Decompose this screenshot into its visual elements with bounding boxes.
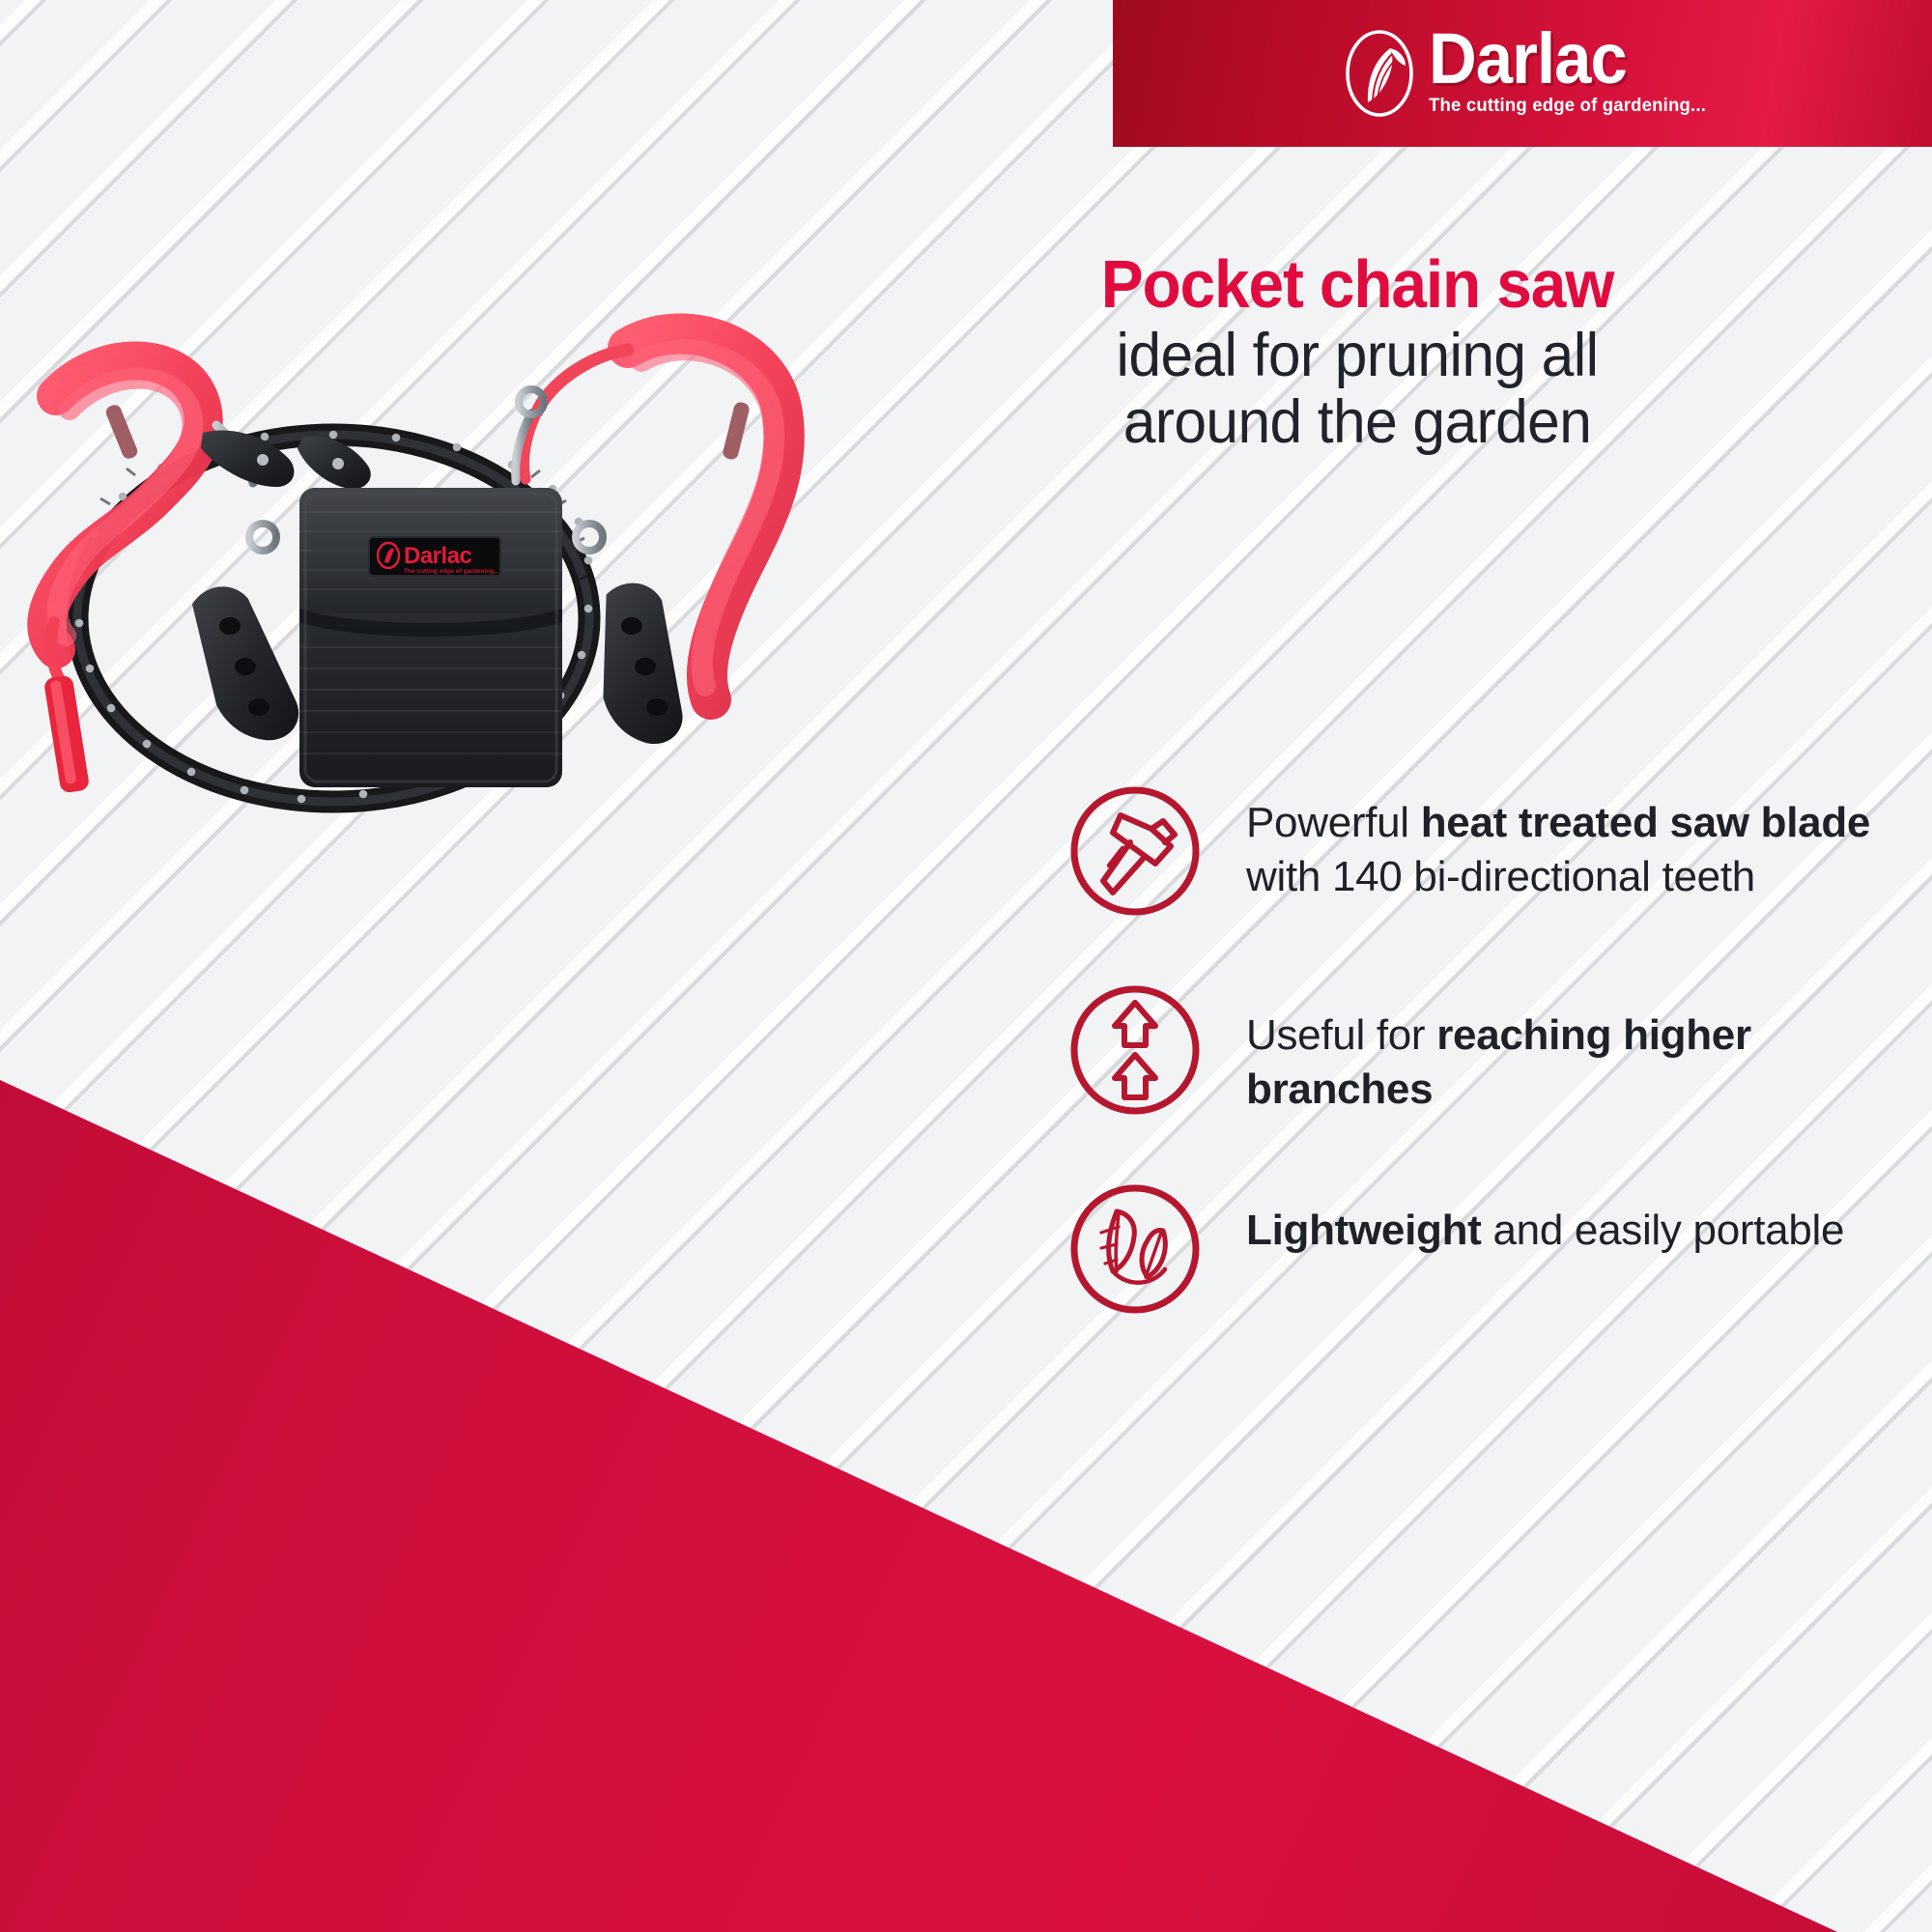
svg-text:The cutting edge of gardening.: The cutting edge of gardening... [404, 568, 499, 575]
feather-icon [1063, 1177, 1207, 1321]
product-image: Darlac The cutting edge of gardening... [10, 290, 860, 889]
red-paracord-rope-left [46, 360, 203, 649]
feature-text-heat-treated-blade: Powerful heat treated saw blade with 140… [1246, 784, 1893, 905]
text-segment: with 140 bi-directional teeth [1246, 853, 1755, 900]
hammer-icon [1063, 779, 1207, 923]
double-up-arrow-icon [1063, 978, 1207, 1122]
leaf-oval-icon [1344, 29, 1415, 118]
feature-text-reaching-higher: Useful for reaching higher branches [1246, 983, 1893, 1118]
text-segment: Useful for [1246, 1011, 1436, 1059]
black-plastic-handle-right [591, 581, 696, 747]
logo-tagline: The cutting edge of gardening... [1429, 95, 1706, 117]
black-plastic-handle-left [190, 580, 300, 747]
subtitle-line-2: around the garden [1123, 388, 1592, 456]
text-segment-bold: heat treated saw blade [1421, 799, 1870, 846]
subtitle-line-1: ideal for pruning all [1117, 322, 1599, 389]
darlac-logo-banner: Darlac The cutting edge of gardening... [1113, 0, 1932, 147]
feature-list: Powerful heat treated saw blade with 140… [1063, 784, 1893, 1321]
feature-item-reaching-higher: Useful for reaching higher branches [1063, 983, 1893, 1122]
feature-text-lightweight: Lightweight and easily portable [1246, 1182, 1844, 1258]
text-segment: and easily portable [1482, 1207, 1845, 1254]
infographic-canvas: Darlac The cutting edge of gardening... … [0, 0, 1932, 1932]
feature-item-lightweight: Lightweight and easily portable [1063, 1182, 1893, 1321]
logo-wordmark: Darlac [1429, 30, 1627, 89]
black-storage-pouch: Darlac The cutting edge of gardening... [299, 488, 562, 787]
headline-block: Pocket chain saw ideal for pruning all a… [816, 249, 1898, 457]
text-segment-bold: Lightweight [1246, 1207, 1482, 1254]
page-subtitle: ideal for pruning all around the garden [838, 323, 1876, 457]
feature-item-heat-treated-blade: Powerful heat treated saw blade with 140… [1063, 784, 1893, 923]
pouch-darlac-badge: Darlac The cutting edge of gardening... [369, 537, 500, 576]
page-title: Pocket chain saw [849, 249, 1866, 319]
svg-text:Darlac: Darlac [404, 543, 472, 569]
text-segment: Powerful [1246, 799, 1421, 846]
